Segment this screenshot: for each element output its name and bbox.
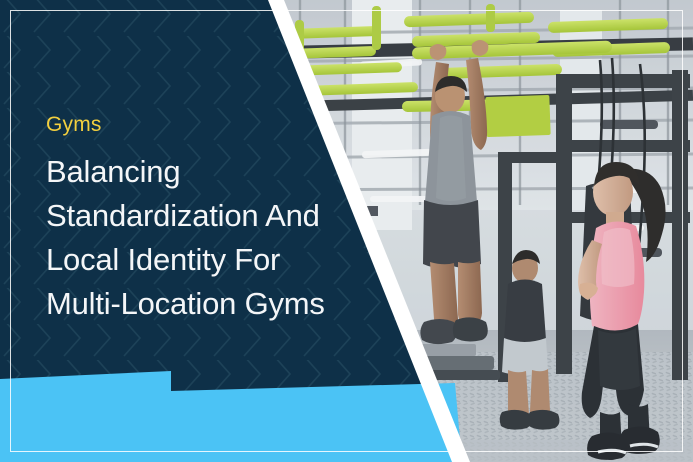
- headline-block: Gyms Balancing Standardization And Local…: [46, 112, 346, 326]
- gym-article-banner: Gyms Balancing Standardization And Local…: [0, 0, 693, 462]
- page-title: Balancing Standardization And Local Iden…: [46, 150, 346, 326]
- eyebrow-category: Gyms: [46, 112, 346, 138]
